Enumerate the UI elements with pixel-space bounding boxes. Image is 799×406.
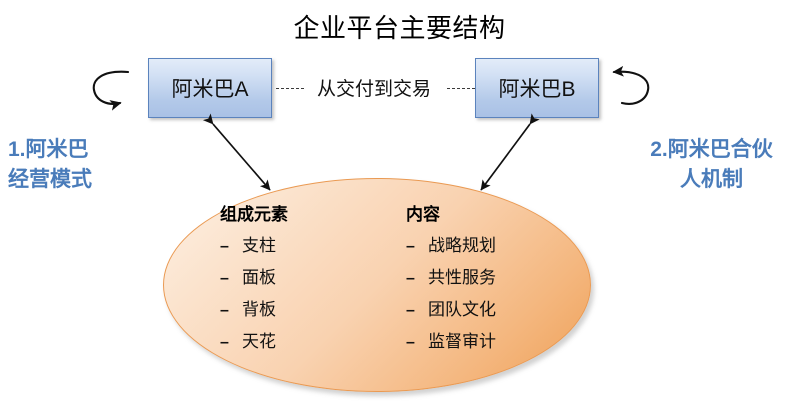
connector-arrow-b-to-ellipse bbox=[481, 124, 530, 190]
list-item: – 团队文化 bbox=[406, 295, 530, 320]
list-item-label: 面板 bbox=[242, 263, 276, 288]
amoeba-a-box[interactable]: 阿米巴A bbox=[148, 58, 272, 118]
page-title: 企业平台主要结构 bbox=[0, 8, 799, 45]
ellipse-column-content: 内容 – 战略规划 – 共性服务 – 团队文化 – 监督审计 bbox=[406, 200, 530, 359]
list-item-label: 共性服务 bbox=[428, 263, 496, 288]
list-item-label: 天花 bbox=[242, 327, 276, 352]
list-item-label: 支柱 bbox=[242, 231, 276, 256]
column-header-content: 内容 bbox=[406, 200, 530, 225]
list-item-label: 监督审计 bbox=[428, 327, 496, 352]
amoeba-b-label: 阿米巴B bbox=[498, 73, 575, 103]
column-header-composition: 组成元素 bbox=[220, 200, 344, 225]
bullet-dash-icon: – bbox=[220, 270, 242, 288]
side-label-right: 2.阿米巴合伙 人机制 bbox=[629, 135, 794, 195]
curved-arrow-counterclockwise-icon bbox=[614, 72, 648, 104]
amoeba-b-box[interactable]: 阿米巴B bbox=[475, 58, 599, 118]
side-label-right-line1: 2.阿米巴合伙 bbox=[650, 138, 773, 161]
bullet-dash-icon: – bbox=[406, 334, 428, 352]
side-label-left-line2: 经营模式 bbox=[8, 165, 92, 195]
bullet-dash-icon: – bbox=[220, 302, 242, 320]
bullet-dash-icon: – bbox=[220, 238, 242, 256]
list-item: – 面板 bbox=[220, 263, 344, 288]
list-item: – 天花 bbox=[220, 327, 344, 352]
curved-arrow-clockwise-icon bbox=[94, 72, 128, 104]
list-item: – 支柱 bbox=[220, 231, 344, 256]
side-label-left: 1.阿米巴 经营模式 bbox=[8, 135, 92, 195]
list-item: – 共性服务 bbox=[406, 263, 530, 288]
list-item-label: 背板 bbox=[242, 295, 276, 320]
bullet-dash-icon: – bbox=[406, 270, 428, 288]
bullet-dash-icon: – bbox=[406, 302, 428, 320]
side-label-left-line1: 1.阿米巴 bbox=[8, 138, 89, 161]
ellipse-content: 组成元素 – 支柱 – 面板 – 背板 – 天花 内容 – 战略规划 bbox=[220, 200, 560, 359]
connector-label: 从交付到交易 bbox=[288, 74, 460, 101]
list-item-label: 战略规划 bbox=[428, 231, 496, 256]
side-label-right-line2: 人机制 bbox=[629, 165, 794, 195]
bullet-dash-icon: – bbox=[406, 238, 428, 256]
amoeba-a-label: 阿米巴A bbox=[171, 73, 248, 103]
list-item-label: 团队文化 bbox=[428, 295, 496, 320]
list-item: – 背板 bbox=[220, 295, 344, 320]
bullet-dash-icon: – bbox=[220, 334, 242, 352]
ellipse-column-composition: 组成元素 – 支柱 – 面板 – 背板 – 天花 bbox=[220, 200, 344, 359]
list-item: – 监督审计 bbox=[406, 327, 530, 352]
diagram-canvas: 企业平台主要结构 阿米巴A 阿米巴B 从交付到交易 1.阿米巴 经营模式 2.阿… bbox=[0, 0, 799, 406]
list-item: – 战略规划 bbox=[406, 231, 530, 256]
connector-arrow-a-to-ellipse bbox=[213, 124, 270, 190]
